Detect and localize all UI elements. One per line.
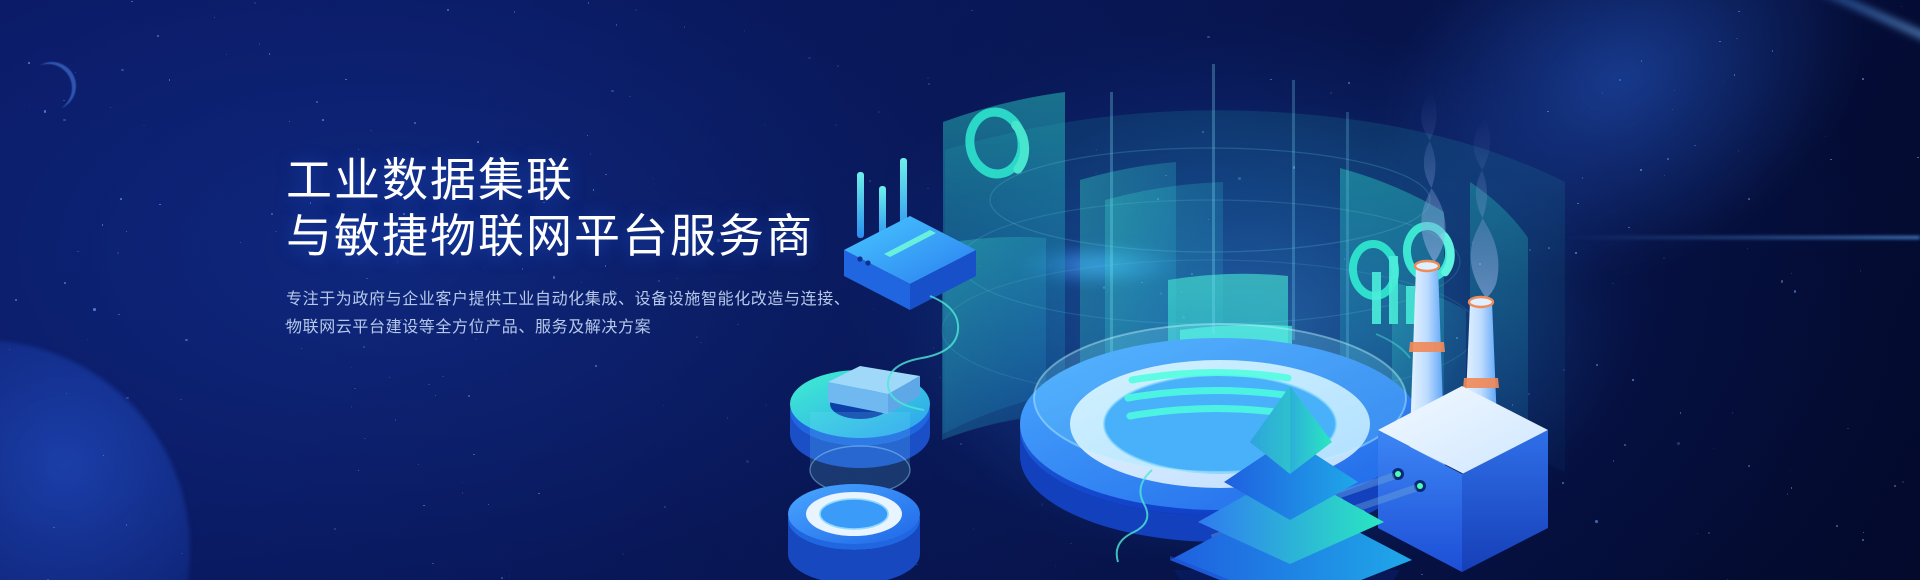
crescent-moon-icon [28,62,76,110]
donut-chart [790,366,930,494]
hero-illustration [780,0,1920,580]
ring-pad [788,484,920,580]
hologram-strip-2 [1212,64,1215,334]
hero-banner: 工业数据集联 与敏捷物联网平台服务商 专注于为政府与企业客户提供工业自动化集成、… [0,0,1920,580]
planet-sphere [0,340,190,580]
hologram-strip-3 [1292,80,1295,340]
